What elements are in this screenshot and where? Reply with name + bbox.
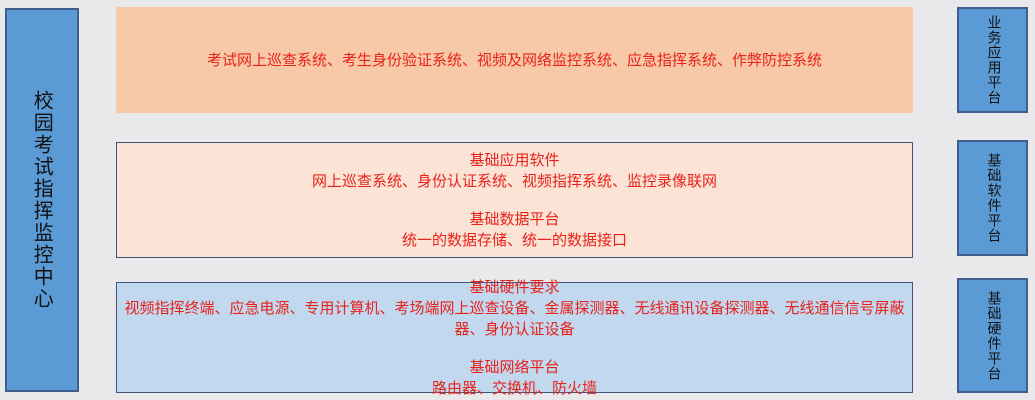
layer-group-heading: 基础网络平台 (469, 357, 559, 378)
layer-group: 基础硬件要求 视频指挥终端、应急电源、专用计算机、考场端网上巡查设备、金属探测器… (125, 277, 905, 340)
layer-group: 基础应用软件 网上巡查系统、身份认证系统、视频指挥系统、监控录像联网 (312, 150, 717, 192)
architecture-layer-stack: 考试网上巡查系统、考生身份验证系统、视频及网络监控系统、应急指挥系统、作弊防控系… (116, 7, 913, 393)
layer-group-heading: 基础应用软件 (469, 150, 559, 171)
platform-tag-label: 基础硬件平台 (984, 291, 1002, 381)
platform-tag-label: 业务应用平台 (984, 15, 1002, 105)
layer-group-heading: 基础数据平台 (469, 209, 559, 230)
platform-tag-basic-software: 基础软件平台 (957, 140, 1028, 256)
center-title-panel: 校园考试指挥监控中心 (5, 8, 79, 392)
layer-line: 视频指挥终端、应急电源、专用计算机、考场端网上巡查设备、金属探测器、无线通讯设备… (125, 298, 905, 340)
layer-line: 考试网上巡查系统、考生身份验证系统、视频及网络监控系统、应急指挥系统、作弊防控系… (207, 50, 822, 71)
platform-tag-basic-hardware: 基础硬件平台 (957, 278, 1028, 393)
layer-group-heading: 基础硬件要求 (469, 277, 559, 298)
center-title-label: 校园考试指挥监控中心 (29, 90, 55, 310)
layer-group: 考试网上巡查系统、考生身份验证系统、视频及网络监控系统、应急指挥系统、作弊防控系… (207, 50, 822, 71)
layer-line: 网上巡查系统、身份认证系统、视频指挥系统、监控录像联网 (312, 171, 717, 192)
layer-group: 基础数据平台 统一的数据存储、统一的数据接口 (402, 209, 627, 251)
basic-software-layer: 基础应用软件 网上巡查系统、身份认证系统、视频指挥系统、监控录像联网 基础数据平… (116, 142, 913, 258)
platform-tag-business-application: 业务应用平台 (957, 7, 1028, 113)
business-application-layer: 考试网上巡查系统、考生身份验证系统、视频及网络监控系统、应急指挥系统、作弊防控系… (116, 7, 913, 113)
platform-tag-label: 基础软件平台 (984, 153, 1002, 243)
basic-hardware-layer: 基础硬件要求 视频指挥终端、应急电源、专用计算机、考场端网上巡查设备、金属探测器… (116, 282, 913, 393)
layer-line: 统一的数据存储、统一的数据接口 (402, 230, 627, 251)
layer-line: 路由器、交换机、防火墙 (432, 378, 597, 399)
layer-group: 基础网络平台 路由器、交换机、防火墙 (432, 357, 597, 399)
